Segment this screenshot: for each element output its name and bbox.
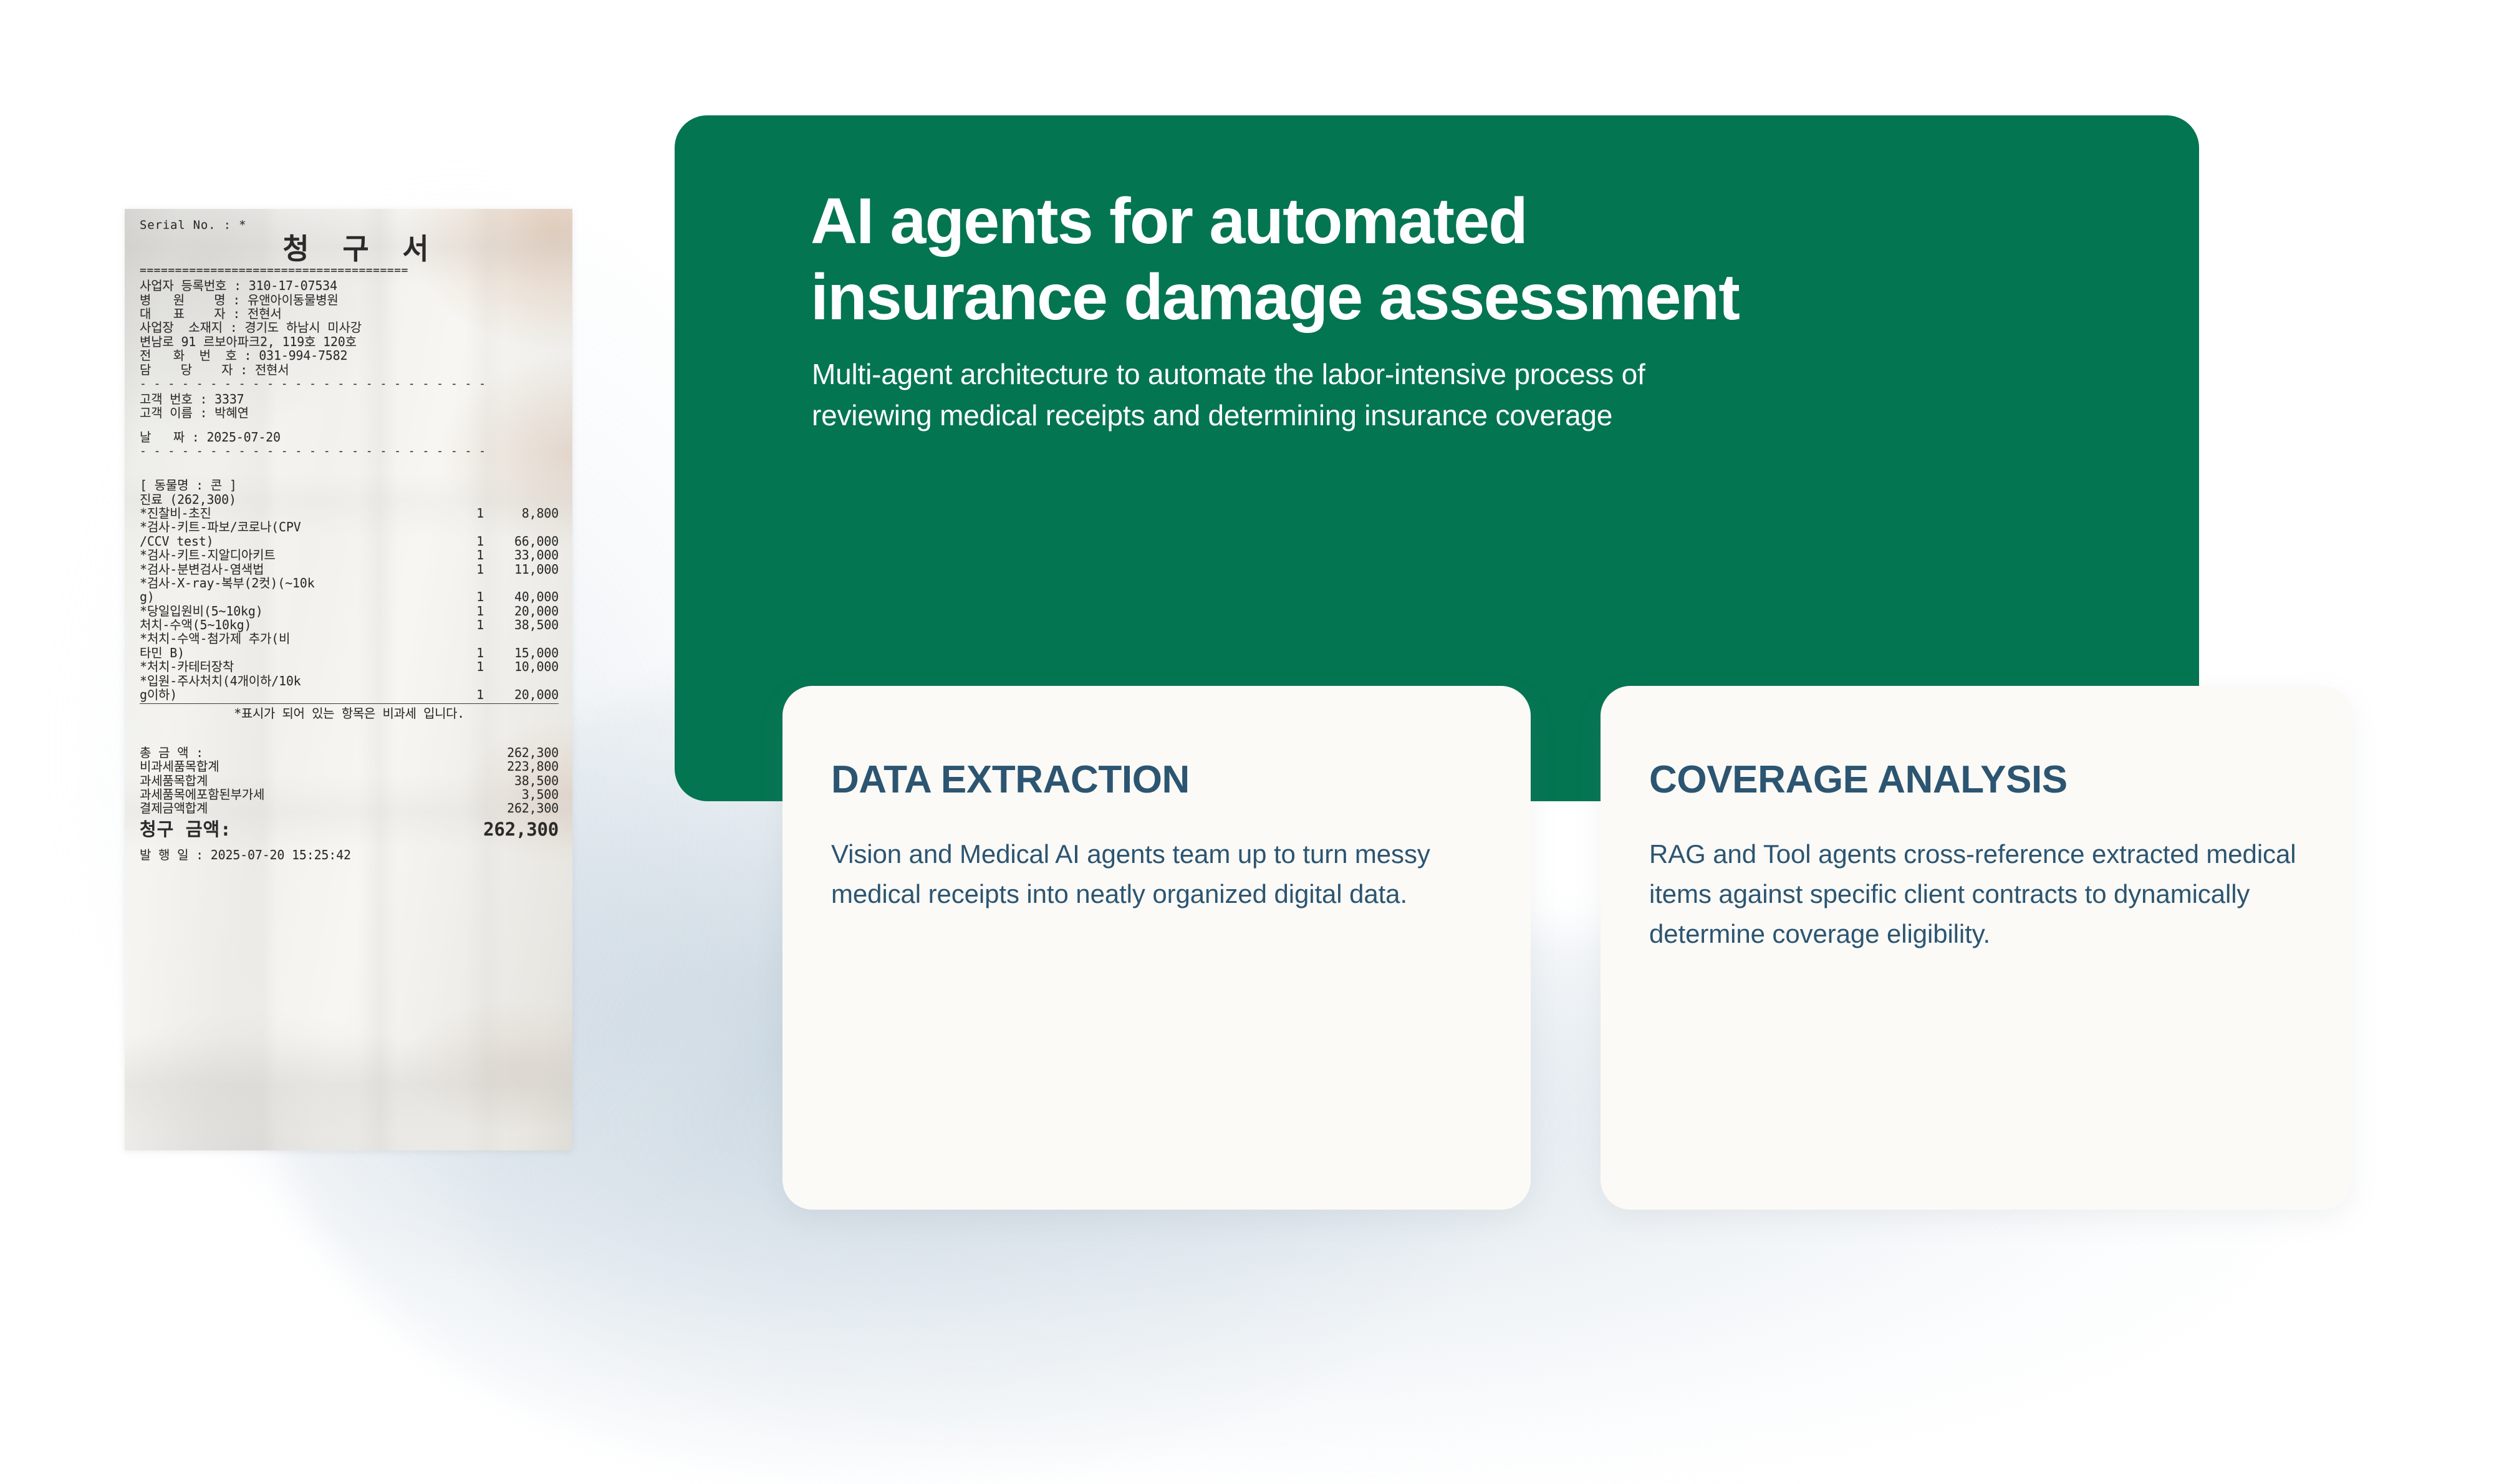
- page-subtitle-line-1: Multi-agent architecture to automate the…: [812, 354, 2065, 395]
- item-name: *처치-카테터장착: [140, 660, 456, 673]
- item-name: *당일입원비(5~10kg): [140, 604, 456, 618]
- receipt-divider-top: ======================================: [140, 264, 559, 277]
- item-amount: 11,000: [484, 562, 559, 576]
- item-name: *검사-키트-파보/코로나(CPV: [140, 520, 456, 534]
- card-body: RAG and Tool agents cross-reference extr…: [1649, 834, 2298, 953]
- item-amount: 20,000: [484, 604, 559, 618]
- receipt-total-row: 총 금 액 : 262,300: [140, 746, 559, 759]
- receipt-content: Serial No. : * 청 구 서 ===================…: [125, 209, 572, 862]
- item-name: /CCV test): [140, 534, 456, 548]
- total-value: 38,500: [481, 774, 559, 788]
- total-label: 과세품목에포함된부가세: [140, 788, 481, 801]
- item-amount: 38,500: [484, 618, 559, 632]
- item-qty: 1: [456, 646, 484, 660]
- page-subtitle-line-2: reviewing medical receipts and determini…: [812, 395, 2065, 436]
- receipt-business-line: 변남로 91 르보아파크2, 119호 120호: [140, 335, 559, 349]
- receipt-customer-name: 고객 이름 : 박혜연: [140, 406, 559, 420]
- receipt-divider-mid: - - - - - - - - - - - - - - - - - - - - …: [140, 378, 559, 390]
- item-qty: 1: [456, 562, 484, 576]
- card-heading: COVERAGE ANALYSIS: [1649, 761, 2298, 799]
- item-name: *처치-수액-첨가제 추가(비: [140, 632, 456, 645]
- total-label: 비과세품목합계: [140, 759, 481, 773]
- item-name: *검사-분변검사-염색법: [140, 562, 456, 576]
- spacer: [140, 721, 559, 746]
- receipt-title: 청 구 서: [161, 234, 559, 263]
- receipt-line-item: g) 1 40,000: [140, 590, 559, 604]
- receipt-line-item: g이하) 1 20,000: [140, 688, 559, 701]
- receipt-divider-items: - - - - - - - - - - - - - - - - - - - - …: [140, 445, 559, 458]
- total-label: 결제금액합계: [140, 801, 481, 815]
- item-name: 처치-수액(5~10kg): [140, 618, 456, 632]
- item-qty: 1: [456, 506, 484, 520]
- receipt-line-item: *검사-키트-지알디아키트 1 33,000: [140, 548, 559, 562]
- total-label: 과세품목합계: [140, 774, 481, 788]
- total-value: 3,500: [481, 788, 559, 801]
- page-title-line-2: insurance damage assessment: [811, 260, 2139, 336]
- receipt-category: 진료 (262,300): [140, 493, 559, 506]
- receipt-grand-total: 청구 금액: 262,300: [140, 819, 559, 839]
- receipt-business-line: 대 표 자 : 전현서: [140, 307, 559, 320]
- receipt-business-line: 사업자 등록번호 : 310-17-07534: [140, 279, 559, 292]
- grand-total-label: 청구 금액:: [140, 819, 449, 839]
- receipt-issued-datetime: 발 행 일 : 2025-07-20 15:25:42: [140, 848, 559, 862]
- page-title: AI agents for automated insurance damage…: [811, 184, 2139, 335]
- item-amount: 33,000: [484, 548, 559, 562]
- total-value: 262,300: [481, 746, 559, 759]
- item-amount: 15,000: [484, 646, 559, 660]
- item-qty: 1: [456, 548, 484, 562]
- item-name: *진찰비-초진: [140, 506, 456, 520]
- receipt-customer-number: 고객 번호 : 3337: [140, 392, 559, 406]
- receipt-line-item: *입원-주사처치(4개이하/10k: [140, 674, 559, 688]
- receipt-date: 날 짜 : 2025-07-20: [140, 430, 559, 444]
- receipt-business-line: 담 당 자 : 전현서: [140, 363, 559, 377]
- receipt-line-item: *당일입원비(5~10kg) 1 20,000: [140, 604, 559, 618]
- card-content: DATA EXTRACTION Vision and Medical AI ag…: [782, 686, 1531, 914]
- item-qty: 1: [456, 604, 484, 618]
- spacer: [140, 420, 559, 430]
- receipt-line-item: *처치-수액-첨가제 추가(비: [140, 632, 559, 645]
- item-qty: 1: [456, 590, 484, 604]
- item-name: *검사-X-ray-복부(2컷)(~10k: [140, 576, 456, 590]
- receipt-total-row: 과세품목합계 38,500: [140, 774, 559, 788]
- item-amount: 20,000: [484, 688, 559, 701]
- receipt-rule: [140, 703, 559, 704]
- receipt-line-item: *진찰비-초진 1 8,800: [140, 506, 559, 520]
- item-qty: 1: [456, 688, 484, 701]
- receipt-business-line: 전 화 번 호 : 031-994-7582: [140, 349, 559, 362]
- total-value: 262,300: [481, 801, 559, 815]
- receipt-line-item: *검사-X-ray-복부(2컷)(~10k: [140, 576, 559, 590]
- item-name: g이하): [140, 688, 456, 701]
- card-content: COVERAGE ANALYSIS RAG and Tool agents cr…: [1601, 686, 2352, 953]
- item-name: *입원-주사처치(4개이하/10k: [140, 674, 456, 688]
- item-name: 타민 B): [140, 646, 456, 660]
- receipt-line-item: /CCV test) 1 66,000: [140, 534, 559, 548]
- receipt-total-row: 결제금액합계 262,300: [140, 801, 559, 815]
- receipt-serial-no: Serial No. : *: [140, 219, 559, 232]
- item-qty: 1: [456, 618, 484, 632]
- item-amount: 40,000: [484, 590, 559, 604]
- receipt-tax-note: *표시가 되어 있는 항목은 비과세 입니다.: [140, 706, 559, 720]
- item-name: *검사-키트-지알디아키트: [140, 548, 456, 562]
- receipt-line-item: 타민 B) 1 15,000: [140, 646, 559, 660]
- receipt-total-row: 과세품목에포함된부가세 3,500: [140, 788, 559, 801]
- receipt-business-line: 병 원 명 : 유앤아이동물병원: [140, 293, 559, 307]
- receipt-line-item: *검사-분변검사-염색법 1 11,000: [140, 562, 559, 576]
- item-qty: 1: [456, 660, 484, 673]
- receipt-total-row: 비과세품목합계 223,800: [140, 759, 559, 773]
- receipt-line-item: *처치-카테터장착 1 10,000: [140, 660, 559, 673]
- item-qty: 1: [456, 534, 484, 548]
- spacer: [140, 460, 559, 478]
- item-name: g): [140, 590, 456, 604]
- page-title-line-1: AI agents for automated: [811, 184, 2139, 260]
- grand-total-value: 262,300: [449, 819, 559, 839]
- page-subtitle: Multi-agent architecture to automate the…: [812, 354, 2065, 436]
- item-amount: 8,800: [484, 506, 559, 520]
- receipt-animal-name: [ 동물명 : 콘 ]: [140, 478, 559, 492]
- total-label: 총 금 액 :: [140, 746, 481, 759]
- item-amount: 66,000: [484, 534, 559, 548]
- item-amount: 10,000: [484, 660, 559, 673]
- card-body: Vision and Medical AI agents team up to …: [831, 834, 1477, 914]
- receipt-line-item: *검사-키트-파보/코로나(CPV: [140, 520, 559, 534]
- medical-receipt-photo: Serial No. : * 청 구 서 ===================…: [125, 209, 572, 1150]
- feature-card-data-extraction: DATA EXTRACTION Vision and Medical AI ag…: [782, 686, 1531, 1210]
- receipt-business-line: 사업장 소재지 : 경기도 하남시 미사강: [140, 320, 559, 334]
- receipt-line-item: 처치-수액(5~10kg) 1 38,500: [140, 618, 559, 632]
- total-value: 223,800: [481, 759, 559, 773]
- card-heading: DATA EXTRACTION: [831, 761, 1477, 799]
- feature-card-coverage-analysis: COVERAGE ANALYSIS RAG and Tool agents cr…: [1601, 686, 2352, 1210]
